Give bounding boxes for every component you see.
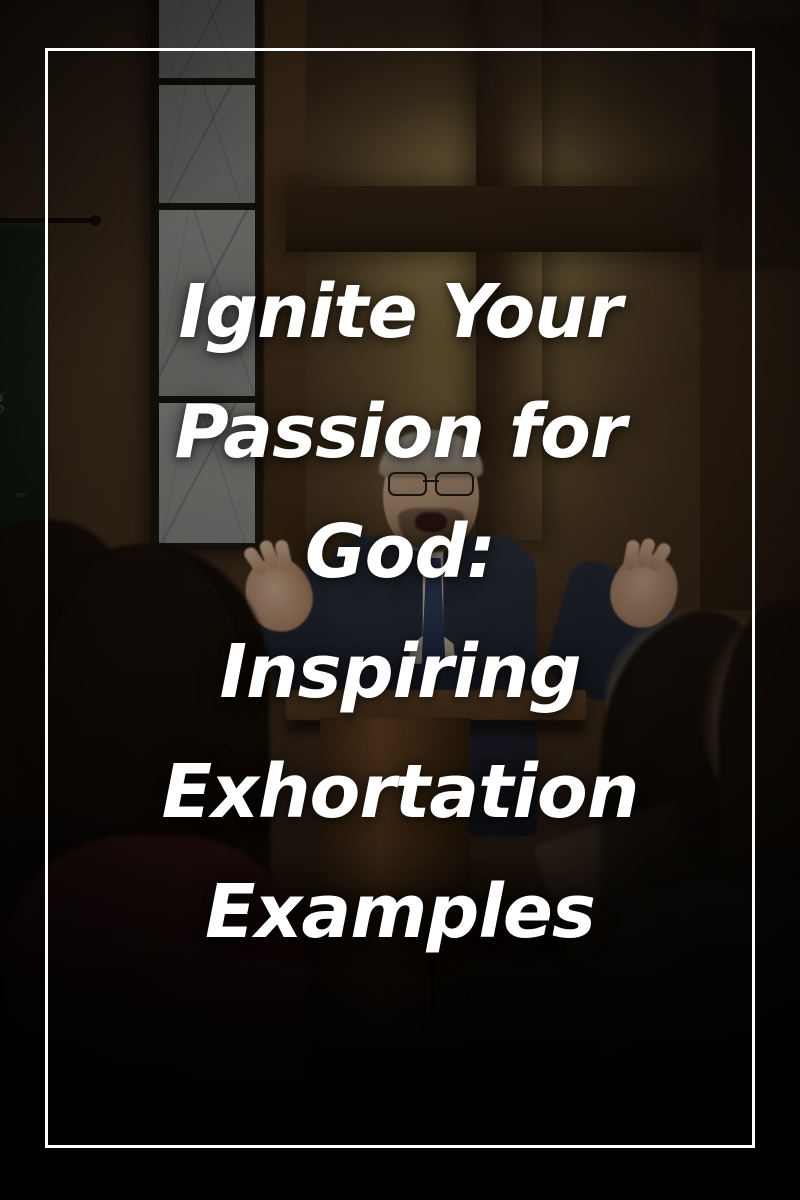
pin-title-overlay: Ignite Your Passion for God: Inspiring E… [45, 252, 755, 972]
pinterest-pin-graphic: rt ing n mv [0, 0, 800, 1200]
title-line-2: Passion for [45, 372, 755, 492]
title-line-1: Ignite Your [45, 252, 755, 372]
title-line-4: Inspiring [45, 612, 755, 732]
title-line-3: God: [45, 492, 755, 612]
title-line-5: Exhortation [45, 732, 755, 852]
title-line-6: Examples [45, 852, 755, 972]
